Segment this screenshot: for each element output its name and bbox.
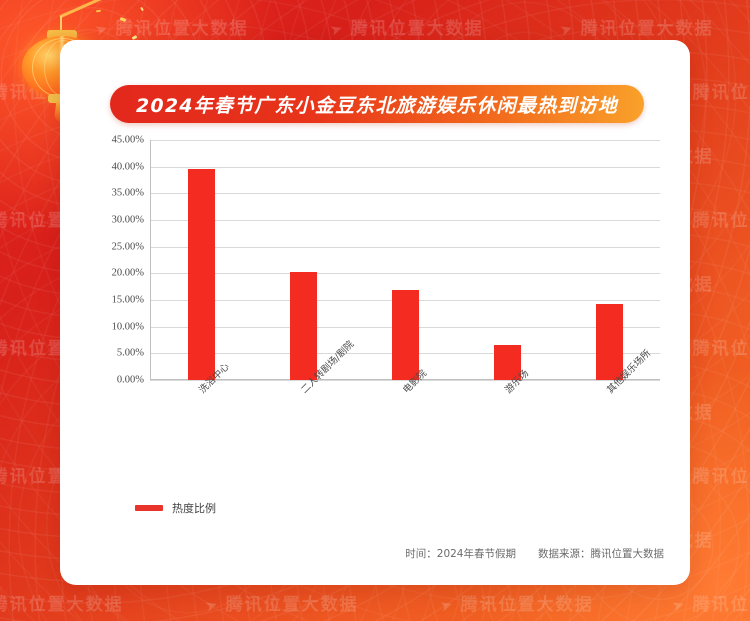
watermark-logo-icon: ➤: [670, 594, 689, 616]
y-axis-tick-label: 5.00%: [117, 348, 144, 359]
gridline: [150, 193, 660, 194]
watermark-logo-icon: ➤: [203, 594, 222, 616]
gridline: [150, 273, 660, 274]
watermark-text: ➤腾讯位置大数据: [560, 14, 714, 39]
watermark-text: ➤腾讯位置大数据: [672, 590, 750, 615]
watermark-text: ➤腾讯位置大数据: [205, 590, 359, 615]
plot-area: 洗浴中心二人转剧场/剧院电影院游乐场其他娱乐场所: [150, 140, 660, 380]
bar-chart: 0.00%5.00%10.00%15.00%20.00%25.00%30.00%…: [80, 140, 672, 470]
chart-legend: 热度比例: [135, 500, 216, 516]
y-axis-tick-label: 20.00%: [112, 268, 144, 279]
gridline: [150, 167, 660, 168]
chart-title-pill: 2024年春节广东小金豆东北旅游娱乐休闲最热到访地: [110, 85, 644, 123]
watermark-logo-icon: ➤: [328, 18, 347, 40]
y-axis-tick-label: 10.00%: [112, 321, 144, 332]
y-axis-tick-label: 15.00%: [112, 295, 144, 306]
gridline: [150, 247, 660, 248]
watermark-logo-icon: ➤: [438, 594, 457, 616]
watermark-text: ➤腾讯位置大数据: [330, 14, 484, 39]
chart-card: 2024年春节广东小金豆东北旅游娱乐休闲最热到访地 0.00%5.00%10.0…: [60, 40, 690, 585]
y-axis-tick-label: 0.00%: [117, 375, 144, 386]
y-axis-labels: 0.00%5.00%10.00%15.00%20.00%25.00%30.00%…: [80, 140, 144, 380]
bar[interactable]: [188, 169, 215, 380]
watermark-text: ➤腾讯位置大数据: [0, 590, 124, 615]
footer-source: 数据来源：腾讯位置大数据: [538, 546, 664, 561]
y-axis-tick-label: 35.00%: [112, 188, 144, 199]
y-axis-tick-label: 40.00%: [112, 161, 144, 172]
gridline: [150, 220, 660, 221]
page-title: 2024年春节广东小金豆东北旅游娱乐休闲最热到访地: [136, 91, 618, 118]
watermark-text: ➤腾讯位置大数据: [440, 590, 594, 615]
y-axis-line: [150, 140, 151, 380]
bar[interactable]: [392, 290, 419, 380]
y-axis-tick-label: 45.00%: [112, 135, 144, 146]
legend-swatch: [135, 505, 163, 511]
footer-time: 时间：2024年春节假期: [405, 546, 516, 561]
y-axis-tick-label: 30.00%: [112, 215, 144, 226]
legend-label: 热度比例: [172, 500, 216, 516]
chart-footer: 时间：2024年春节假期 数据来源：腾讯位置大数据: [405, 546, 664, 561]
bar[interactable]: [290, 272, 317, 380]
y-axis-tick-label: 25.00%: [112, 241, 144, 252]
gridline: [150, 140, 660, 141]
watermark-logo-icon: ➤: [558, 18, 577, 40]
